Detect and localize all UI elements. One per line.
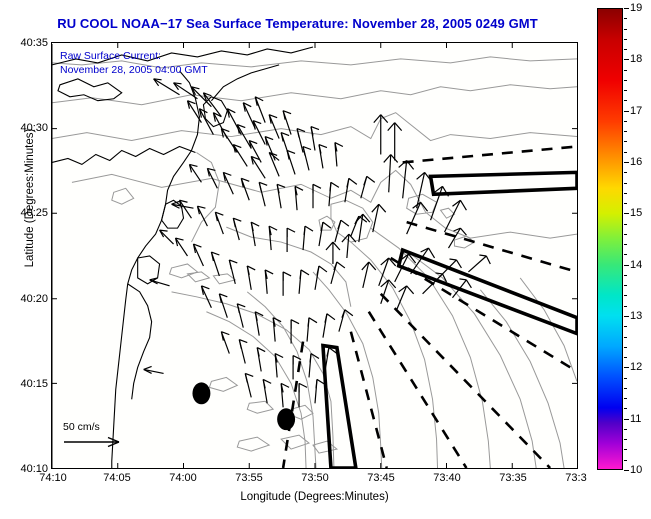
- map-graphics: [52, 43, 577, 468]
- x-axis-title: Longitude (Degrees:Minutes): [51, 491, 578, 503]
- surface-current-vectors: [144, 79, 491, 407]
- colorbar-minor-tickmark: [624, 285, 627, 286]
- colorbar-minor-tickmark: [624, 378, 627, 379]
- x-tick-label: 73:55: [235, 472, 263, 484]
- colorbar-minor-tickmark: [624, 357, 627, 358]
- colorbar-minor-tickmark: [624, 244, 627, 245]
- figure-title: RU COOL NOAA−17 Sea Surface Temperature:…: [0, 16, 595, 31]
- colorbar-minor-tickmark: [624, 316, 627, 317]
- colorbar-tick-label: 17: [630, 105, 642, 117]
- colorbar-minor-tickmark: [624, 337, 627, 338]
- y-axis-title: Latitude (Degrees:Minutes): [24, 108, 36, 288]
- axis-tickmarks: [52, 43, 577, 468]
- colorbar-minor-tickmark: [624, 18, 627, 19]
- colorbar-minor-tickmark: [624, 449, 627, 450]
- colorbar-minor-tickmark: [624, 8, 627, 9]
- colorbar-minor-tickmark: [624, 460, 627, 461]
- x-tick-label: 73:3: [565, 472, 586, 484]
- colorbar-minor-tickmark: [624, 141, 627, 142]
- colorbar-minor-tickmark: [624, 80, 627, 81]
- y-tick-label: 40:35: [2, 37, 48, 49]
- station-marker: [192, 382, 210, 404]
- sst-map-figure: RU COOL NOAA−17 Sea Surface Temperature:…: [0, 0, 651, 519]
- colorbar-tick-label: 10: [630, 464, 642, 476]
- colorbar-minor-tickmark: [624, 367, 627, 368]
- x-tick-label: 73:35: [499, 472, 527, 484]
- colorbar-minor-tickmark: [624, 347, 627, 348]
- colorbar-tick-label: 11: [630, 413, 641, 425]
- x-tick-label: 73:40: [433, 472, 461, 484]
- coastline: [52, 47, 313, 468]
- colorbar-minor-tickmark: [624, 306, 627, 307]
- sst-contour-lines: [52, 57, 577, 468]
- colorbar-minor-tickmark: [624, 162, 627, 163]
- colorbar-minor-tickmark: [624, 70, 627, 71]
- colorbar-minor-tickmark: [624, 275, 627, 276]
- colorbar-tick-label: 15: [630, 207, 642, 219]
- x-tick-label: 73:45: [367, 472, 395, 484]
- colorbar-minor-tickmark: [624, 111, 627, 112]
- colorbar-minor-tickmark: [624, 326, 627, 327]
- colorbar-minor-tickmark: [624, 39, 627, 40]
- colorbar-minor-tickmark: [624, 203, 627, 204]
- colorbar-tick-label: 19: [630, 2, 642, 14]
- y-tick-label: 40:20: [2, 293, 48, 305]
- colorbar-minor-tickmark: [624, 234, 627, 235]
- colorbar-minor-tickmark: [624, 224, 627, 225]
- colorbar-minor-tickmark: [624, 121, 627, 122]
- y-tick-label: 40:15: [2, 378, 48, 390]
- colorbar-minor-tickmark: [624, 172, 627, 173]
- colorbar-minor-tickmark: [624, 193, 627, 194]
- colorbar-tick-label: 18: [630, 53, 642, 65]
- colorbar-minor-tickmark: [624, 388, 627, 389]
- x-axis-ticks: 74:10 74:05 74:00 73:55 73:50 73:45 73:4…: [0, 472, 651, 492]
- colorbar-minor-tickmark: [624, 29, 627, 30]
- colorbar-ticks: 19181716151413121110: [624, 8, 651, 470]
- x-tick-label: 74:05: [103, 472, 131, 484]
- colorbar-minor-tickmark: [624, 419, 627, 420]
- colorbar-tick-label: 13: [630, 310, 642, 322]
- colorbar-tick-label: 14: [630, 259, 642, 271]
- station-marker: [277, 408, 295, 430]
- x-tick-label: 74:10: [39, 472, 67, 484]
- map-plot-area[interactable]: Raw Surface Current: November 28, 2005 0…: [51, 42, 578, 469]
- colorbar-minor-tickmark: [624, 90, 627, 91]
- colorbar-minor-tickmark: [624, 49, 627, 50]
- colorbar-minor-tickmark: [624, 213, 627, 214]
- colorbar-minor-tickmark: [624, 131, 627, 132]
- colorbar-minor-tickmark: [624, 295, 627, 296]
- colorbar: 19181716151413121110 Temperature (°C): [597, 8, 651, 478]
- colorbar-minor-tickmark: [624, 254, 627, 255]
- colorbar-minor-tickmark: [624, 429, 627, 430]
- colorbar-gradient: [597, 8, 623, 470]
- colorbar-minor-tickmark: [624, 152, 627, 153]
- colorbar-minor-tickmark: [624, 408, 627, 409]
- colorbar-minor-tickmark: [624, 470, 627, 471]
- x-tick-label: 73:50: [301, 472, 329, 484]
- colorbar-minor-tickmark: [624, 265, 627, 266]
- colorbar-minor-tickmark: [624, 100, 627, 101]
- colorbar-tick-label: 12: [630, 361, 642, 373]
- colorbar-minor-tickmark: [624, 59, 627, 60]
- colorbar-minor-tickmark: [624, 398, 627, 399]
- x-tick-label: 74:00: [169, 472, 197, 484]
- colorbar-minor-tickmark: [624, 439, 627, 440]
- colorbar-tick-label: 16: [630, 156, 642, 168]
- station-markers: [192, 382, 295, 430]
- colorbar-minor-tickmark: [624, 183, 627, 184]
